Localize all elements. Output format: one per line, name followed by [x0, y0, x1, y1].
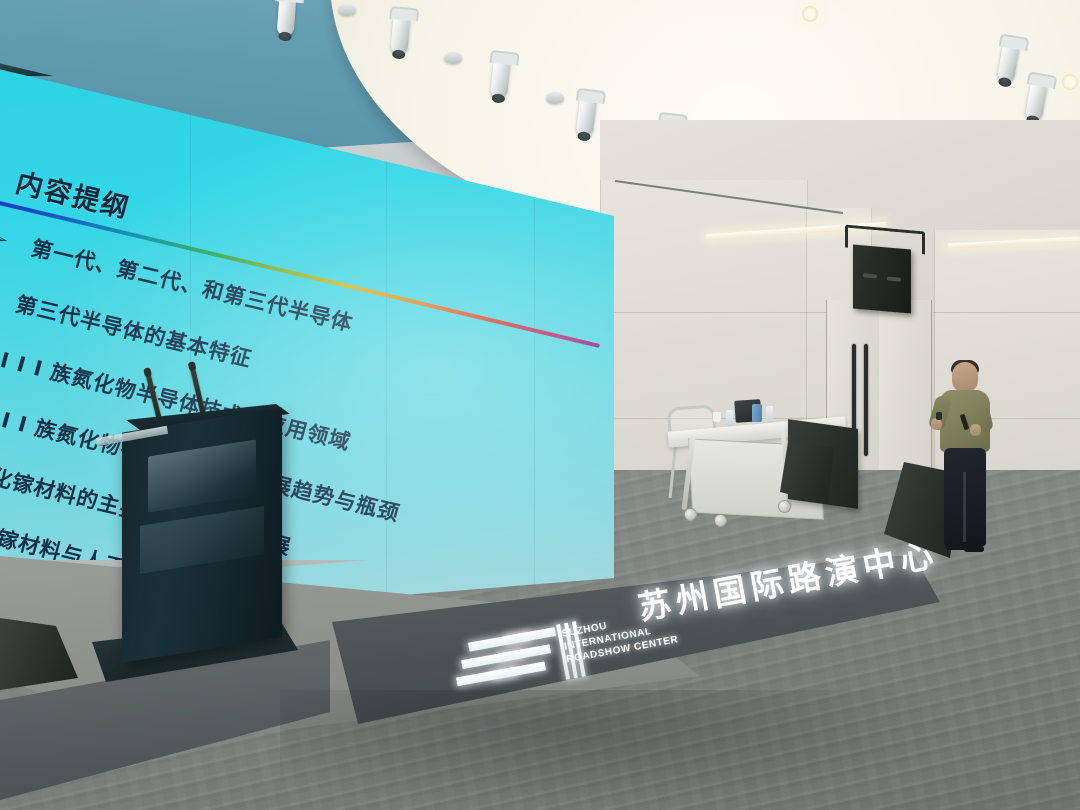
presentation-clicker [936, 412, 942, 420]
paper-cup [713, 412, 721, 422]
presenter-head [952, 362, 978, 392]
podium-lectern [122, 407, 282, 662]
ceiling-puck-light-icon [338, 4, 356, 16]
beverage-can [752, 404, 762, 422]
presenter [930, 362, 1000, 562]
podium-reflection [148, 439, 256, 512]
presenter-right-hand [970, 424, 981, 436]
speaker-driver-icon [887, 276, 901, 281]
venue-sign-chinese: 苏州国际路演中心 [634, 528, 942, 630]
presenter-shoe [964, 544, 984, 552]
ceiling-downlight-icon [1062, 74, 1078, 90]
conference-hall-photo: 内容提纲 ➢ 第一代、第二代、和第三代半导体 ➢ 第三代半导体的基本特征 ➢ I… [0, 0, 1080, 810]
trouser-seam [963, 472, 966, 542]
ceiling-puck-light-icon [546, 92, 564, 104]
water-bottle [726, 410, 733, 427]
presenter-shoe [946, 542, 966, 550]
door-handle-icon[interactable] [864, 344, 868, 456]
water-bottle [766, 406, 773, 423]
ceiling-spotlight-icon [277, 0, 297, 37]
ceiling-puck-light-icon [444, 52, 462, 64]
ceiling-downlight-icon [802, 6, 818, 22]
hanging-line-array-speaker [853, 244, 911, 313]
podium-reflection [140, 506, 264, 574]
speaker-driver-icon [863, 273, 877, 278]
